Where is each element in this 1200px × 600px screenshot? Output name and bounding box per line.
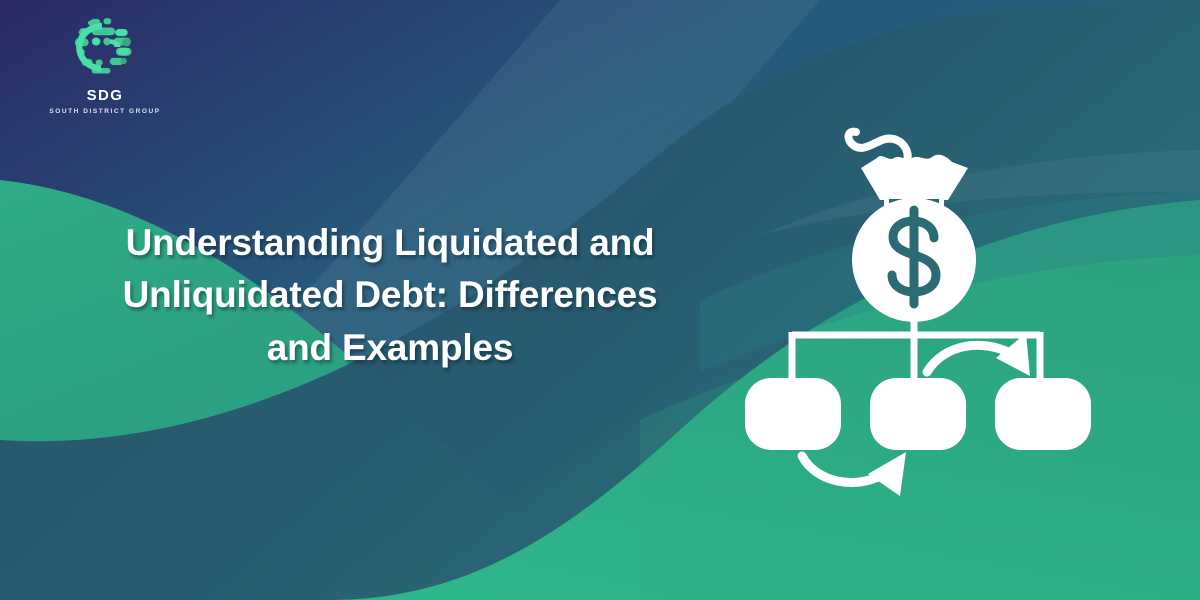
page-title: Understanding Liquidated and Unliquidate… xyxy=(60,217,720,375)
node-box-left xyxy=(745,378,841,450)
money-distribution-svg xyxy=(730,100,1110,500)
headline-line-1: Understanding Liquidated and xyxy=(60,217,720,270)
curved-arrow-top-right xyxy=(927,333,1030,376)
curved-arrow-bottom-left xyxy=(802,452,906,496)
logo[interactable]: SDG SOUTH DISTRICT GROUP xyxy=(40,8,170,115)
headline-line-3: and Examples xyxy=(60,322,720,375)
headline-line-2: Unliquidated Debt: Differences xyxy=(60,269,720,322)
node-box-center xyxy=(870,378,966,450)
logo-name: SDG xyxy=(40,88,170,105)
money-distribution-diagram xyxy=(730,100,1110,500)
promotional-banner: SDG SOUTH DISTRICT GROUP Understanding L… xyxy=(0,0,1200,600)
globe-icon xyxy=(66,8,144,86)
money-bag-top xyxy=(861,155,968,200)
logo-tagline: SOUTH DISTRICT GROUP xyxy=(40,108,170,115)
node-box-right xyxy=(995,378,1091,450)
